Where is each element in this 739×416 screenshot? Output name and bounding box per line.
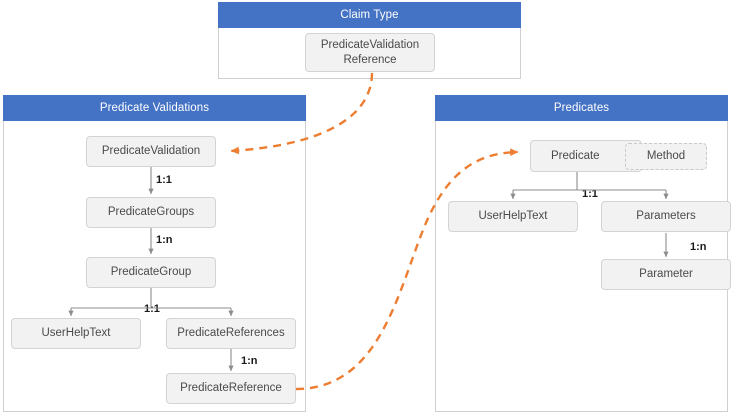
cardinality-pgs-to-pg: 1:n bbox=[156, 234, 173, 246]
cardinality-pg-to-children: 1:1 bbox=[144, 303, 160, 315]
node-label: PredicateReferences bbox=[177, 326, 284, 340]
cardinality-pv-to-pgs: 1:1 bbox=[156, 174, 172, 186]
panel-claim-type-header: Claim Type bbox=[218, 2, 521, 28]
cardinality-value: 1:n bbox=[690, 241, 707, 253]
cardinality-p-to-children: 1:1 bbox=[582, 188, 598, 200]
node-predicate-references[interactable]: PredicateReferences bbox=[166, 318, 296, 349]
panel-predicate-validations-title: Predicate Validations bbox=[100, 102, 209, 114]
cardinality-value: 1:1 bbox=[156, 174, 172, 186]
node-user-help-text-left[interactable]: UserHelpText bbox=[11, 318, 141, 349]
node-label: PredicateGroup bbox=[111, 265, 192, 279]
node-parameters[interactable]: Parameters bbox=[601, 201, 731, 232]
node-label: UserHelpText bbox=[478, 209, 547, 223]
node-label: UserHelpText bbox=[41, 326, 110, 340]
panel-predicates-header: Predicates bbox=[435, 95, 728, 121]
diagram-canvas: Claim Type PredicateValidation Reference… bbox=[0, 0, 739, 416]
node-predicate-validation[interactable]: PredicateValidation bbox=[86, 136, 216, 167]
node-label-line1: PredicateValidation bbox=[321, 38, 419, 53]
node-label-line2: Reference bbox=[343, 53, 396, 68]
node-label: Method bbox=[647, 149, 685, 163]
node-method[interactable]: Method bbox=[625, 143, 707, 170]
node-label: PredicateGroups bbox=[108, 205, 194, 219]
panel-predicate-validations-header: Predicate Validations bbox=[3, 95, 306, 121]
panel-claim-type-title: Claim Type bbox=[340, 9, 398, 21]
cardinality-value: 1:n bbox=[156, 234, 173, 246]
node-predicate-validation-reference[interactable]: PredicateValidation Reference bbox=[305, 33, 435, 72]
node-label: PredicateValidation bbox=[102, 144, 200, 158]
cardinality-prefs-to-pref: 1:n bbox=[241, 355, 258, 367]
cardinality-value: 1:n bbox=[241, 355, 258, 367]
node-label: PredicateReference bbox=[180, 381, 282, 395]
node-predicate-group[interactable]: PredicateGroup bbox=[86, 257, 216, 288]
node-parameter[interactable]: Parameter bbox=[601, 259, 731, 290]
node-predicate-groups[interactable]: PredicateGroups bbox=[86, 197, 216, 228]
node-label: Parameter bbox=[639, 267, 693, 281]
panel-predicates-title: Predicates bbox=[554, 102, 609, 114]
cardinality-value: 1:1 bbox=[144, 303, 160, 315]
node-user-help-text-right[interactable]: UserHelpText bbox=[448, 201, 578, 232]
cardinality-params-to-param: 1:n bbox=[690, 241, 707, 253]
node-label: Parameters bbox=[636, 209, 695, 223]
cardinality-value: 1:1 bbox=[582, 188, 598, 200]
node-predicate-reference[interactable]: PredicateReference bbox=[166, 373, 296, 404]
node-label: Predicate bbox=[551, 149, 600, 163]
